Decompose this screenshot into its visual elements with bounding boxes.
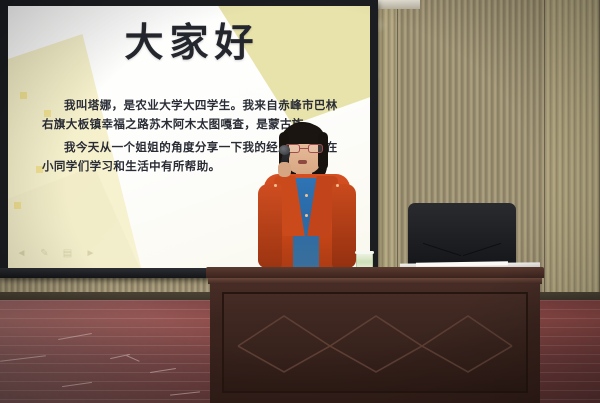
glasses-icon <box>285 144 323 153</box>
next-slide-icon[interactable]: ► <box>85 248 96 259</box>
wall-column-right <box>544 0 600 300</box>
slide-title: 大家好 <box>8 12 370 68</box>
arm-left <box>258 184 282 268</box>
slide-square-decor <box>14 202 21 209</box>
arm-right <box>332 184 356 268</box>
podium-molding <box>208 278 542 284</box>
jacket-button <box>336 184 339 187</box>
pen-icon[interactable]: ✎ <box>39 248 50 259</box>
glasses-bridge <box>300 148 308 149</box>
office-chair <box>408 203 516 267</box>
menu-icon[interactable]: ▤ <box>62 248 73 259</box>
paper-cup-rim <box>355 251 374 254</box>
woman-presenter <box>252 122 362 272</box>
microphone-head-icon <box>279 145 290 155</box>
podium-top-surface <box>206 267 544 278</box>
chair-seam <box>463 243 501 256</box>
slide-square-decor <box>20 92 27 99</box>
podium-diamond-inlay <box>236 312 514 374</box>
jacket-button <box>274 184 277 187</box>
mouth <box>298 160 307 164</box>
chair-seam <box>423 243 461 256</box>
glasses-lens-right <box>308 144 323 153</box>
jacket-button <box>305 194 308 197</box>
slideshow-controls[interactable]: ◄ ✎ ▤ ► <box>16 248 96 259</box>
auditorium-scene: 大家好 我叫塔娜，是农业大学大四学生。我来自赤峰市巴林右旗大板镇幸福之路苏木阿木… <box>0 0 600 403</box>
hand <box>278 162 291 177</box>
previous-slide-icon[interactable]: ◄ <box>16 248 27 259</box>
jacket-button <box>305 214 308 217</box>
